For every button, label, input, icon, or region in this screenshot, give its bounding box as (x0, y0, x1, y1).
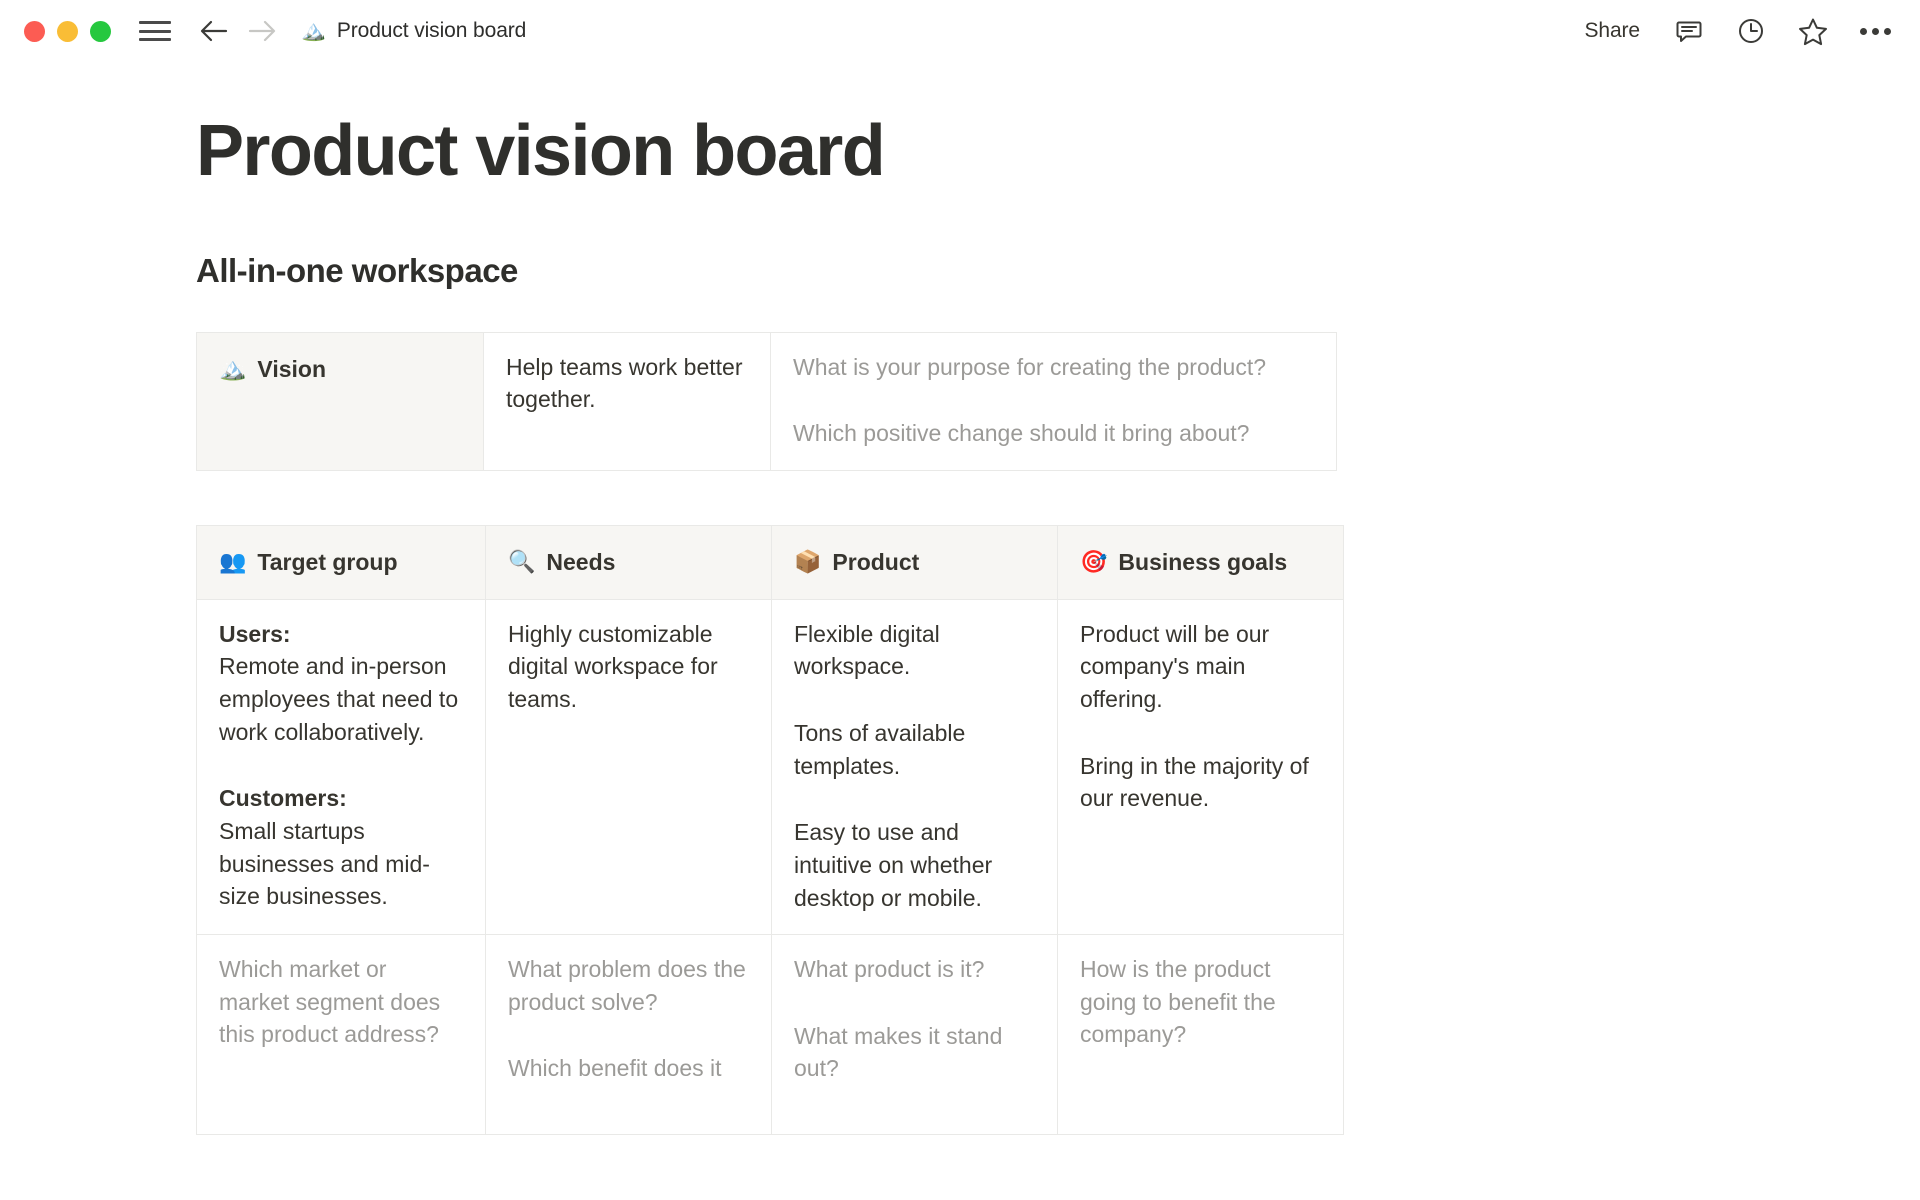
table-row: Users: Remote and in-person employees th… (197, 599, 1344, 935)
hamburger-menu-icon[interactable] (139, 19, 171, 43)
share-button[interactable]: Share (1580, 17, 1644, 45)
vision-value-cell[interactable]: Help teams work better together. (484, 332, 771, 470)
vision-hint-2: Which positive change should it bring ab… (793, 417, 1314, 450)
people-emoji-icon: 👥 (219, 551, 246, 573)
more-dot (1872, 28, 1879, 35)
comments-button[interactable] (1672, 14, 1706, 48)
close-window-button[interactable] (24, 21, 45, 42)
minimize-window-button[interactable] (57, 21, 78, 42)
column-header-label: Product (832, 546, 919, 579)
history-button[interactable] (1734, 14, 1768, 48)
vision-hint-1: What is your purpose for creating the pr… (793, 351, 1314, 384)
window-topbar: 🏔️ Product vision board Share (0, 0, 1920, 62)
users-text: Remote and in-person employees that need… (219, 650, 463, 748)
breadcrumb-title: Product vision board (337, 19, 526, 43)
column-header-label: Business goals (1118, 546, 1287, 579)
breadcrumb[interactable]: 🏔️ Product vision board (301, 19, 526, 43)
column-header-label: Needs (546, 546, 615, 579)
content-column: Product vision board All-in-one workspac… (196, 114, 1896, 1135)
more-dot (1884, 28, 1891, 35)
document-body: Product vision board All-in-one workspac… (0, 114, 1920, 1135)
star-icon (1798, 17, 1828, 46)
cell-product-hint[interactable]: What product is it? What makes it stand … (772, 935, 1058, 1135)
product-hint-2: What makes it stand out? (794, 1020, 1035, 1085)
table-row: Which market or market segment does this… (197, 935, 1344, 1135)
customers-text: Small startups businesses and mid-size b… (219, 815, 463, 913)
business-goals-text-2: Bring in the majority of our revenue. (1080, 750, 1321, 815)
column-header-label: Target group (257, 546, 397, 579)
cell-business-goals-content[interactable]: Product will be our company's main offer… (1058, 599, 1344, 935)
page-title: Product vision board (196, 114, 1896, 190)
vision-table: 🏔️ Vision Help teams work better togethe… (196, 332, 1337, 471)
arrow-left-icon (199, 19, 229, 43)
maximize-window-button[interactable] (90, 21, 111, 42)
topbar-actions: Share (1580, 14, 1892, 48)
page-emoji-icon: 🏔️ (301, 21, 326, 41)
magnifier-emoji-icon: 🔍 (508, 551, 535, 573)
business-goals-text-1: Product will be our company's main offer… (1080, 618, 1321, 716)
comment-icon (1675, 17, 1703, 45)
product-text-2: Tons of available templates. (794, 717, 1035, 782)
back-button[interactable] (197, 14, 231, 48)
vision-hint-cell[interactable]: What is your purpose for creating the pr… (771, 332, 1337, 470)
needs-hint-2: Which benefit does it (508, 1052, 749, 1085)
table-header-row: 👥 Target group 🔍 Needs 📦 Produc (197, 525, 1344, 599)
column-header-needs[interactable]: 🔍 Needs (486, 525, 772, 599)
column-header-business-goals[interactable]: 🎯 Business goals (1058, 525, 1344, 599)
clock-history-icon (1737, 17, 1765, 45)
table-row: 🏔️ Vision Help teams work better togethe… (197, 332, 1337, 470)
product-text-1: Flexible digital workspace. (794, 618, 1035, 683)
page-subtitle: All-in-one workspace (196, 252, 1896, 290)
window-controls (24, 21, 111, 42)
vision-value-text: Help teams work better together. (506, 351, 748, 416)
business-goals-hint-1: How is the product going to benefit the … (1080, 953, 1321, 1051)
target-emoji-icon: 🎯 (1080, 551, 1107, 573)
favorite-button[interactable] (1796, 14, 1830, 48)
users-label: Users: (219, 618, 463, 651)
cell-business-goals-hint[interactable]: How is the product going to benefit the … (1058, 935, 1344, 1135)
cell-product-content[interactable]: Flexible digital workspace. Tons of avai… (772, 599, 1058, 935)
target-group-hint-1: Which market or market segment does this… (219, 953, 463, 1051)
cell-target-group-hint[interactable]: Which market or market segment does this… (197, 935, 486, 1135)
more-dot (1860, 28, 1867, 35)
product-text-3: Easy to use and intuitive on whether des… (794, 816, 1035, 914)
hamburger-bar (139, 38, 171, 41)
hamburger-bar (139, 21, 171, 24)
arrow-right-icon (247, 19, 277, 43)
hamburger-bar (139, 30, 171, 33)
mountain-emoji-icon: 🏔️ (219, 358, 246, 380)
cell-target-group-content[interactable]: Users: Remote and in-person employees th… (197, 599, 486, 935)
navigation-arrows (197, 14, 279, 48)
cell-needs-hint[interactable]: What problem does the product solve? Whi… (486, 935, 772, 1135)
vision-board-table: 👥 Target group 🔍 Needs 📦 Produc (196, 525, 1344, 1135)
column-header-target-group[interactable]: 👥 Target group (197, 525, 486, 599)
needs-hint-1: What problem does the product solve? (508, 953, 749, 1018)
customers-label: Customers: (219, 782, 463, 815)
column-header-product[interactable]: 📦 Product (772, 525, 1058, 599)
product-hint-1: What product is it? (794, 953, 1035, 986)
package-emoji-icon: 📦 (794, 551, 821, 573)
vision-label: Vision (257, 353, 326, 386)
needs-text-1: Highly customizable digital workspace fo… (508, 618, 749, 716)
vision-label-cell[interactable]: 🏔️ Vision (197, 332, 484, 470)
more-options-button[interactable] (1858, 14, 1892, 48)
forward-button[interactable] (245, 14, 279, 48)
cell-needs-content[interactable]: Highly customizable digital workspace fo… (486, 599, 772, 935)
